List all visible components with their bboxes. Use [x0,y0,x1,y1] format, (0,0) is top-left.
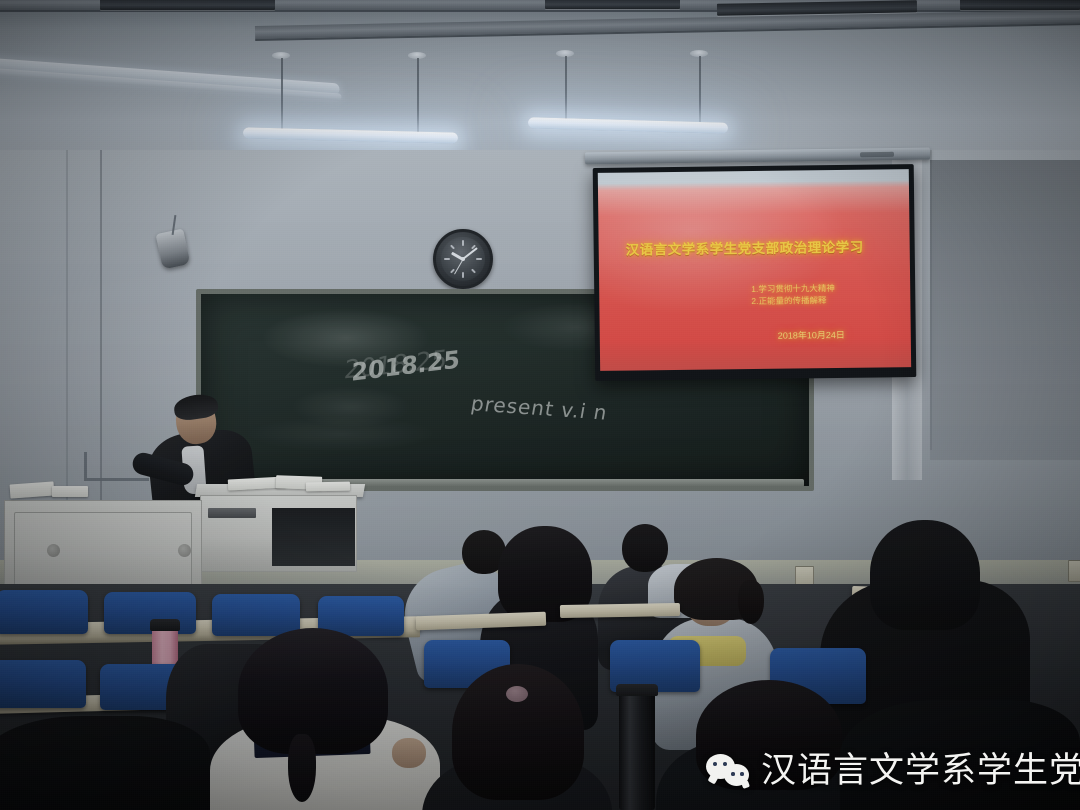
wall-seam [66,150,68,520]
wechat-eye [740,772,744,776]
clock-tick [450,245,455,250]
wall-clock [433,229,493,289]
slide-bullet-1: 1.学习贯彻十九大精神 [751,282,835,295]
student-hand [392,738,426,768]
thermos-cap [616,684,658,696]
watermark-text: 汉语言文学系学生党支部 [761,754,1080,789]
student-silhouette [0,716,210,810]
projector-slide: 汉语言文学系学生党支部政治理论学习 1.学习贯彻十九大精神 2.正能量的传播解释… [598,169,911,371]
chair [212,594,300,636]
wall-outlet [1068,560,1080,582]
podium-shelf-cavity [272,508,355,566]
wechat-eye [713,762,717,766]
classroom-photo: 2018.25 2018.25 present v.i n 汉语言文学系学生党支… [0,0,1080,810]
cabinet-knob [178,544,191,557]
projector-screen-frame: 汉语言文学系学生党支部政治理论学习 1.学习贯彻十九大精神 2.正能量的传播解释… [593,164,917,381]
clock-center-pin [461,257,465,261]
podium-papers [306,482,350,492]
student-hair [870,520,980,630]
wechat-eye [731,772,735,776]
light-rod [417,58,419,138]
wechat-eye [723,762,727,766]
podium-vent [208,508,256,518]
wechat-tail-small [741,780,750,789]
clock-tick [471,269,476,274]
screen-housing-label [860,152,894,157]
clock-tick [476,258,482,260]
cabinet-knob [47,544,60,557]
bottle-cap [150,619,180,631]
ceiling-vent [960,0,1080,10]
light-rod [565,56,567,126]
desk-papers [52,486,88,497]
light-rod [699,56,701,128]
cabinet-panel [14,512,192,586]
student-ponytail [738,580,764,624]
slide-glare [598,169,911,371]
student-head [622,524,668,572]
clock-tick [462,272,464,278]
student-hair [238,628,388,754]
chalk-smudge [246,416,436,452]
wechat-icon [706,752,752,790]
chalk-smudge [261,308,431,368]
watermark: 汉语言文学系学生党支部 [706,752,1080,790]
thermos-flask [619,690,655,810]
clock-tick [462,240,464,246]
student-ponytail [288,734,316,802]
student-hair [452,664,584,800]
ceiling-vent [100,0,275,10]
ceiling-vent [545,0,680,9]
wall-shadow-right [930,160,1080,460]
hair-clip [506,686,528,702]
clock-face [441,237,485,281]
slide-title: 汉语言文学系学生党支部政治理论学习 [626,236,864,259]
slide-date: 2018年10月24日 [778,328,845,342]
chair [0,590,88,634]
chalk-note-right: present v.i n [469,391,609,424]
clock-tick [444,258,450,260]
light-rod [281,58,283,136]
slide-bullet-2: 2.正能量的传播解释 [751,294,826,307]
chair [0,660,86,708]
desk-row [560,603,680,618]
